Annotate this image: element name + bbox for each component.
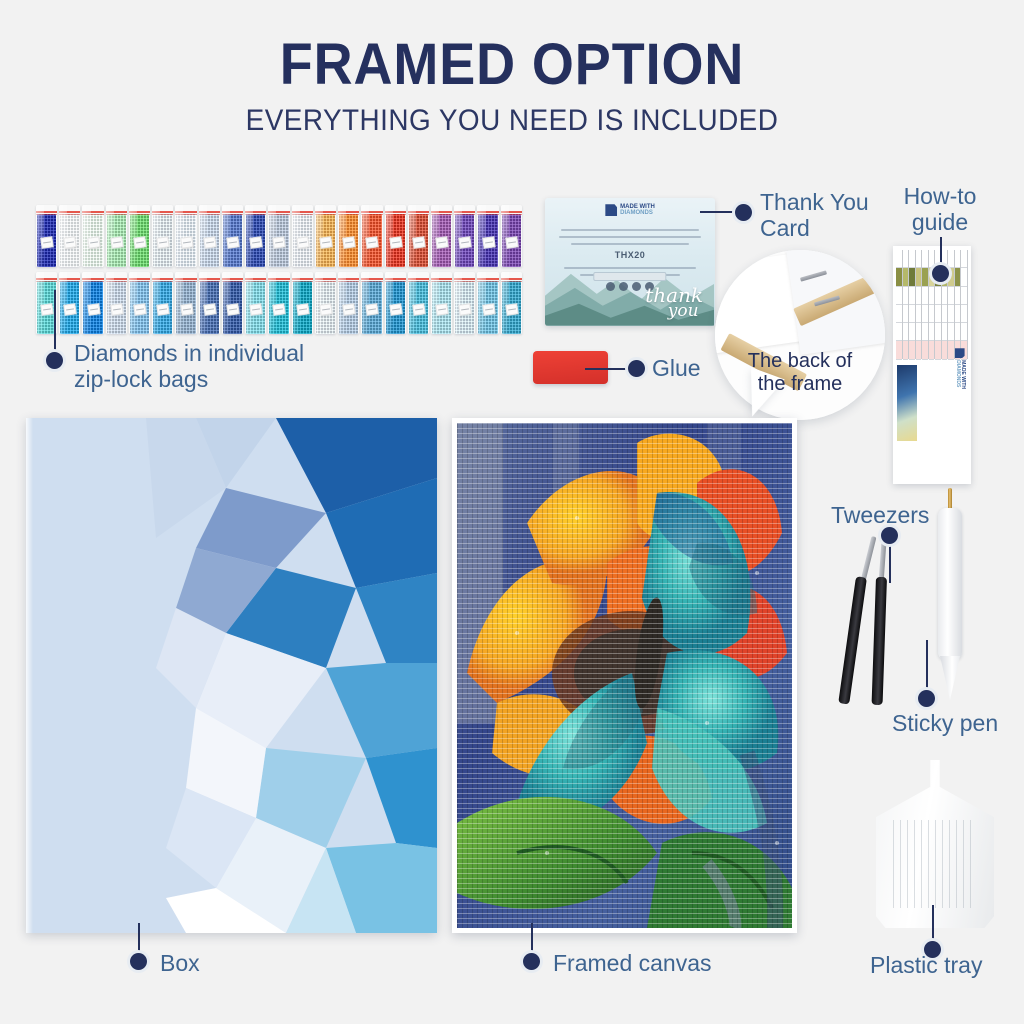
callout-dot-canvas[interactable] <box>523 953 540 970</box>
ziplock-bag <box>59 272 80 334</box>
callout-dot-tweezers[interactable] <box>881 527 898 544</box>
callout-label-glue: Glue <box>652 356 701 382</box>
ziplock-bag <box>199 272 220 334</box>
tweezers-tool <box>852 535 912 705</box>
ziplock-bag <box>477 205 498 267</box>
callout-label-sticky-pen: Sticky pen <box>892 711 998 737</box>
ziplock-bag <box>477 272 498 334</box>
leader-glue <box>585 368 632 370</box>
leader-tray <box>932 905 934 945</box>
canvas-artwork <box>457 423 792 928</box>
card-discount-code: THX20 <box>559 250 702 260</box>
ziplock-bag <box>361 205 382 267</box>
callout-dot-sticky-pen[interactable] <box>918 690 935 707</box>
ziplock-bag <box>245 272 266 334</box>
callout-label-tweezers: Tweezers <box>831 503 929 529</box>
ziplock-bag <box>106 272 127 334</box>
callout-label-diamonds: Diamonds in individual zip-lock bags <box>74 341 304 393</box>
leader-diamonds <box>54 290 56 358</box>
guide-logo: MADE WITH DIAMONDS <box>955 348 966 389</box>
callout-label-how-to: How-to guide <box>893 184 987 236</box>
leader-sticky-pen <box>926 640 928 692</box>
ziplock-bag <box>408 272 429 334</box>
card-logo: MADE WITH DIAMONDS <box>605 204 655 217</box>
brand-mark-icon <box>955 348 965 358</box>
diamond-dot-texture <box>457 423 792 928</box>
callout-label-box: Box <box>160 951 200 977</box>
guide-brand-text: MADE WITH DIAMONDS <box>955 360 966 389</box>
ziplock-bag <box>59 205 80 267</box>
ziplock-bag <box>431 205 452 267</box>
ziplock-bag <box>129 272 150 334</box>
callout-dot-box[interactable] <box>130 953 147 970</box>
ziplock-bag <box>245 205 266 267</box>
leader-tweezers <box>889 545 891 583</box>
ziplock-bag <box>501 272 522 334</box>
callout-dot-glue[interactable] <box>628 360 645 377</box>
callout-label-canvas: Framed canvas <box>553 951 712 977</box>
ziplock-bag <box>315 205 336 267</box>
ziplock-bag <box>82 272 103 334</box>
ziplock-bag <box>268 205 289 267</box>
ziplock-bag <box>129 205 150 267</box>
box-left-edge <box>26 418 33 933</box>
ziplock-bag <box>292 272 313 334</box>
ziplock-bag <box>222 272 243 334</box>
ziplock-bag <box>501 205 522 267</box>
callout-label-thank-you: Thank You Card <box>760 190 869 242</box>
framed-canvas <box>452 418 797 933</box>
infographic-root: FRAMED OPTION EVERYTHING YOU NEED IS INC… <box>0 0 1024 1024</box>
page-title: FRAMED OPTION <box>36 36 988 94</box>
callout-dot-thank-you[interactable] <box>735 204 752 221</box>
sticky-pen-tool <box>938 488 962 698</box>
ziplock-bag <box>82 205 103 267</box>
card-handle-pill <box>593 272 666 281</box>
back-of-frame-bubble: The back of the frame <box>715 250 885 420</box>
ziplock-bag-row-1 <box>36 205 522 267</box>
box-low-poly-art <box>26 418 437 933</box>
ziplock-bag <box>175 205 196 267</box>
leader-canvas <box>531 923 533 956</box>
page-subtitle: EVERYTHING YOU NEED IS INCLUDED <box>36 106 988 136</box>
ziplock-bag <box>315 272 336 334</box>
ziplock-bag <box>338 205 359 267</box>
ziplock-bag <box>106 205 127 267</box>
facebook-icon <box>606 282 615 291</box>
ziplock-bag <box>222 205 243 267</box>
ziplock-bag <box>454 272 475 334</box>
ziplock-bag <box>292 205 313 267</box>
callout-dot-diamonds[interactable] <box>46 352 63 369</box>
leader-box <box>138 923 140 956</box>
card-brand-text: MADE WITH DIAMONDS <box>620 204 655 217</box>
bubble-caption: The back of the frame <box>715 350 885 396</box>
product-box: MADEWITH DIAMONDS <box>26 418 437 933</box>
ziplock-bag <box>175 272 196 334</box>
chart-column <box>961 250 968 359</box>
ziplock-bag <box>152 205 173 267</box>
ziplock-bag <box>431 272 452 334</box>
ziplock-bag <box>338 272 359 334</box>
tiktok-icon <box>619 282 628 291</box>
ziplock-bag <box>36 205 57 267</box>
ziplock-bag <box>361 272 382 334</box>
guide-color-chart <box>896 250 968 359</box>
ziplock-bag <box>385 272 406 334</box>
plastic-tray-tool <box>876 760 994 928</box>
ziplock-bag <box>199 205 220 267</box>
brand-mark-icon <box>605 204 617 216</box>
callout-label-tray: Plastic tray <box>870 953 982 979</box>
ziplock-bag <box>408 205 429 267</box>
ziplock-bag <box>385 205 406 267</box>
card-script-thankyou: thank you <box>645 287 703 318</box>
tray-ribs <box>893 820 978 907</box>
thank-you-card: MADE WITH DIAMONDS THX20 thank you <box>545 198 715 326</box>
guide-photo <box>897 365 917 441</box>
how-to-guide: MADE WITH DIAMONDS <box>893 246 971 484</box>
ziplock-bag <box>152 272 173 334</box>
ziplock-bag <box>454 205 475 267</box>
instagram-icon <box>632 282 641 291</box>
ziplock-bag <box>268 272 289 334</box>
callout-dot-how-to[interactable] <box>932 265 949 282</box>
ziplock-bag-row-2 <box>36 272 522 334</box>
